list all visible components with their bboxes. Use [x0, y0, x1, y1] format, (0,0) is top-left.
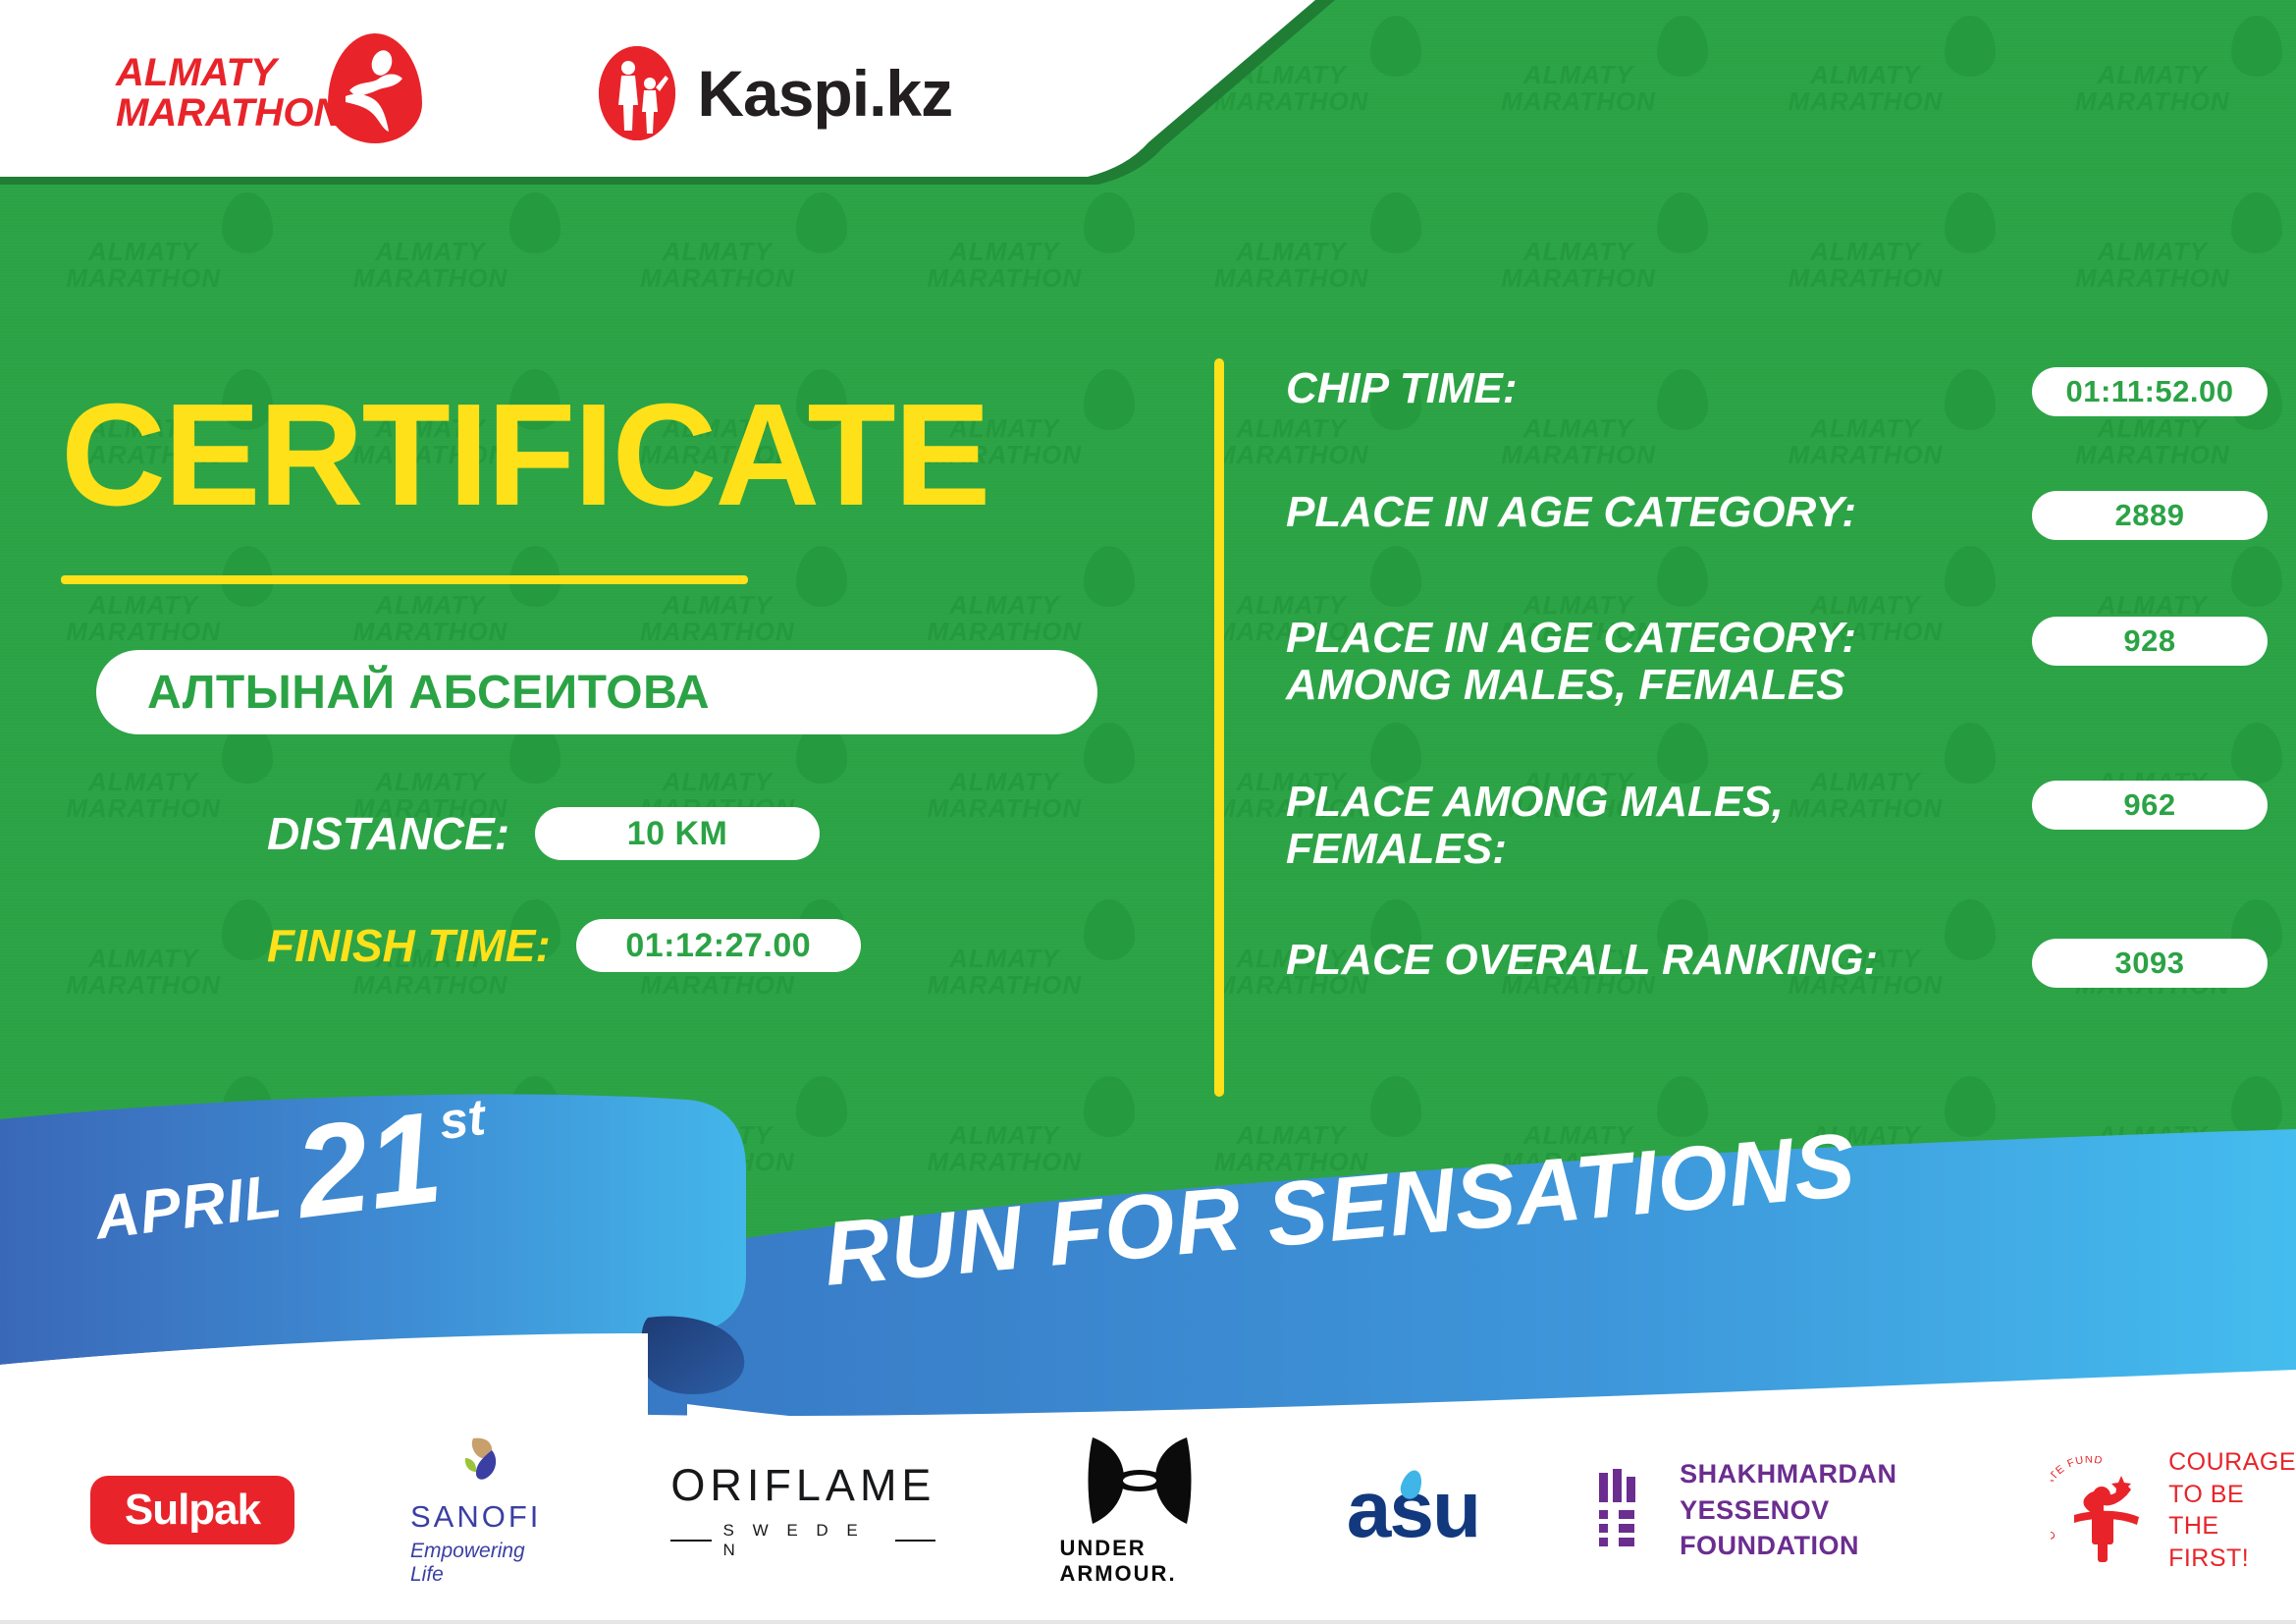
result-row-age-category-gender: PLACE IN AGE CATEGORY: AMONG MALES, FEMA… [1286, 615, 2268, 708]
oriflame-sub: S W E D E N [670, 1521, 935, 1560]
among-gender-label: PLACE AMONG MALES, FEMALES: [1286, 779, 2032, 872]
kaspi-wordmark: Kaspi.kz [697, 56, 952, 131]
result-row-among-gender: PLACE AMONG MALES, FEMALES: 962 [1286, 779, 2268, 872]
yessenov-bars-icon [1597, 1469, 1654, 1551]
sponsor-under-armour: UNDER ARMOUR. [1059, 1434, 1218, 1587]
almaty-marathon-line1: ALMATY [116, 53, 342, 93]
chip-time-value-pill: 01:11:52.00 [2032, 367, 2268, 416]
participant-name-field: АЛТЫНАЙ АБСЕИТОВА [96, 650, 1097, 734]
chip-time-label: CHIP TIME: [1286, 365, 2032, 412]
distance-value: 10 KM [627, 815, 728, 853]
oriflame-rule-left [670, 1540, 711, 1542]
kaspi-logo: Kaspi.kz [599, 46, 952, 140]
result-row-age-category: PLACE IN AGE CATEGORY: 2889 [1286, 489, 2268, 540]
asu-wordmark: asu [1347, 1464, 1479, 1556]
corporate-fund-line2: TO BE [2168, 1479, 2296, 1511]
overall-ranking-value-pill: 3093 [2032, 939, 2268, 988]
corporate-fund-wordmark: COURAGE TO BE THE FIRST! [2168, 1446, 2296, 1574]
age-category-value: 2889 [2115, 498, 2185, 533]
among-gender-value: 962 [2123, 787, 2175, 823]
corporate-fund-line1: COURAGE [2168, 1446, 2296, 1479]
under-armour-wordmark: UNDER ARMOUR. [1059, 1536, 1218, 1587]
event-day: 21 [290, 1099, 447, 1232]
finish-time-label: FINISH TIME: [267, 919, 551, 972]
age-category-gender-label: PLACE IN AGE CATEGORY: AMONG MALES, FEMA… [1286, 615, 2032, 708]
event-day-ordinal: st [436, 1088, 488, 1152]
sponsor-bar: Sulpak SANOFI Empowering Life ORIFLAME S… [0, 1422, 2296, 1598]
almaty-marathon-logo: ALMATY MARATHON [116, 43, 422, 143]
finish-time-row: FINISH TIME: 01:12:27.00 [267, 919, 861, 972]
sanofi-tagline: Empowering Life [410, 1540, 541, 1587]
finish-time-value: 01:12:27.00 [625, 927, 811, 965]
distance-label: DISTANCE: [267, 807, 509, 860]
sanofi-icon [446, 1435, 507, 1495]
sponsor-sulpak: Sulpak [90, 1476, 294, 1544]
sponsor-sanofi: SANOFI Empowering Life [410, 1435, 541, 1587]
corporate-fund-line3: THE FIRST! [2168, 1510, 2296, 1574]
sponsor-corporate-fund: CORPORATE FUND COURAGE TO BE THE FIRST! [2051, 1446, 2296, 1574]
sponsor-asu: asu [1347, 1464, 1479, 1556]
distance-value-pill: 10 KM [535, 807, 820, 860]
chip-time-value: 01:11:52.00 [2066, 374, 2234, 409]
runner-drop-icon [328, 33, 422, 143]
kaspi-people-icon [599, 46, 675, 140]
title-underline [61, 575, 748, 584]
sponsor-yessenov-foundation: SHAKHMARDAN YESSENOV FOUNDATION [1597, 1456, 1943, 1563]
age-category-gender-value-pill: 928 [2032, 617, 2268, 666]
age-category-gender-value: 928 [2123, 623, 2175, 659]
among-gender-value-pill: 962 [2032, 781, 2268, 830]
header-logos: ALMATY MARATHON [0, 0, 1335, 187]
overall-ranking-label: PLACE OVERALL RANKING: [1286, 937, 2032, 984]
age-category-label: PLACE IN AGE CATEGORY: [1286, 489, 2032, 536]
overall-ranking-value: 3093 [2115, 946, 2185, 981]
result-row-overall: PLACE OVERALL RANKING: 3093 [1286, 937, 2268, 988]
oriflame-sweden: S W E D E N [723, 1521, 884, 1560]
yessenov-line1: SHAKHMARDAN YESSENOV [1680, 1456, 1943, 1528]
vertical-divider [1214, 358, 1224, 1097]
almaty-marathon-wordmark: ALMATY MARATHON [116, 53, 342, 134]
footer-divider [0, 1620, 2296, 1624]
yessenov-line2: FOUNDATION [1680, 1528, 1943, 1563]
corporate-fund-runner-icon: CORPORATE FUND [2051, 1456, 2155, 1564]
participant-name-value: АЛТЫНАЙ АБСЕИТОВА [147, 666, 710, 720]
certificate-canvas: ALMATYMARATHONALMATYMARATHONALMATYMARATH… [0, 0, 2296, 1624]
almaty-marathon-line2: MARATHON [116, 93, 342, 134]
oriflame-rule-right [895, 1540, 935, 1542]
age-category-value-pill: 2889 [2032, 491, 2268, 540]
results-column: CHIP TIME: 01:11:52.00 PLACE IN AGE CATE… [1286, 365, 2268, 988]
sanofi-wordmark: SANOFI [410, 1499, 541, 1535]
finish-time-value-pill: 01:12:27.00 [576, 919, 861, 972]
page-title: CERTIFICATE [61, 383, 988, 528]
result-row-chip-time: CHIP TIME: 01:11:52.00 [1286, 365, 2268, 416]
sponsor-oriflame: ORIFLAME S W E D E N [670, 1460, 935, 1560]
distance-row: DISTANCE: 10 KM [267, 807, 820, 860]
yessenov-wordmark: SHAKHMARDAN YESSENOV FOUNDATION [1680, 1456, 1943, 1563]
under-armour-icon [1081, 1434, 1199, 1528]
oriflame-wordmark: ORIFLAME [670, 1460, 935, 1511]
sulpak-logo: Sulpak [90, 1476, 294, 1544]
